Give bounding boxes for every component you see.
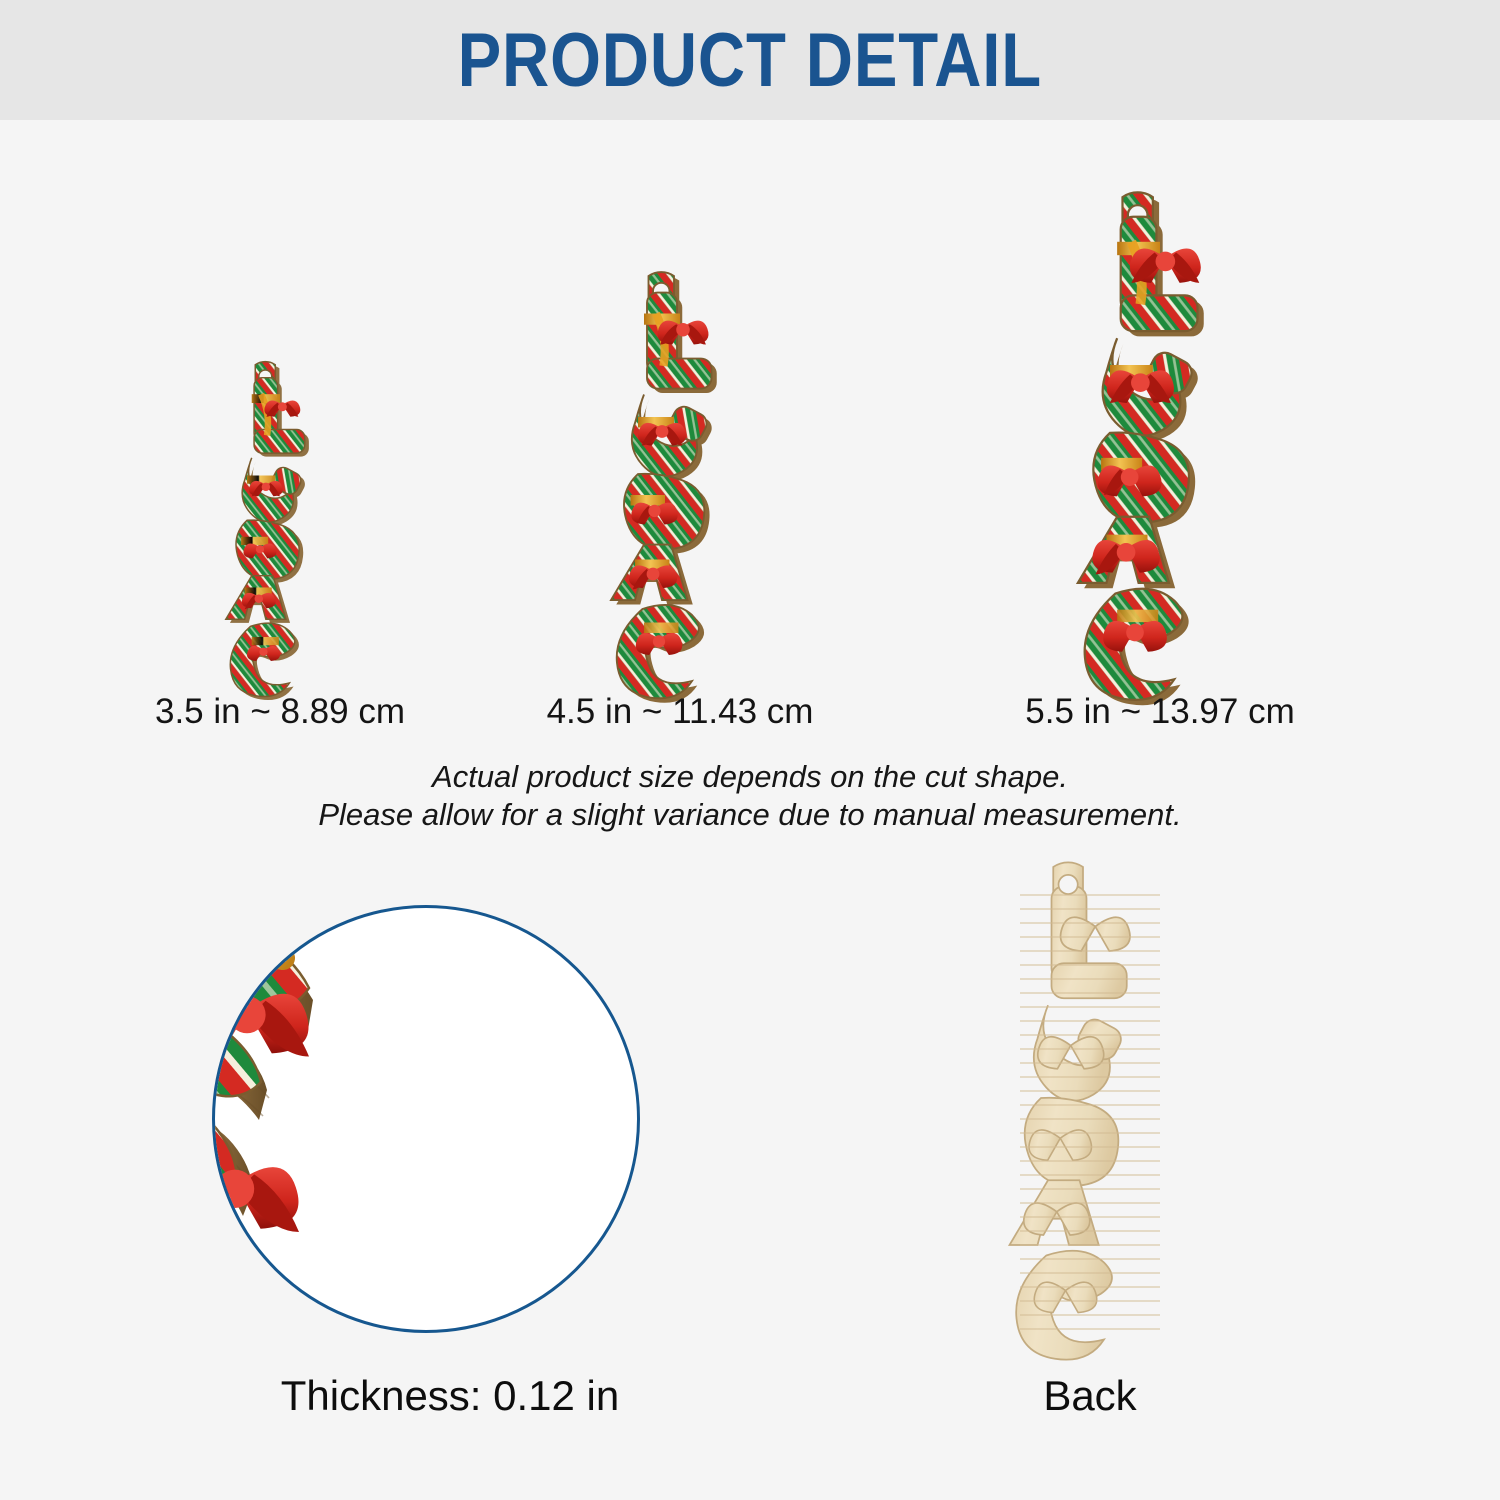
disclaimer-line-2: Please allow for a slight variance due t… xyxy=(0,796,1500,834)
back-view xyxy=(940,860,1240,1350)
ornament-front-medium-icon xyxy=(535,270,825,690)
page-header: PRODUCT DETAIL xyxy=(0,0,1500,120)
ornament-size-large xyxy=(950,150,1370,690)
ornament-size-small xyxy=(70,150,490,690)
size-comparison-row xyxy=(0,150,1500,690)
thickness-detail xyxy=(180,880,680,1350)
size-label-medium: 4.5 in ~ 11.43 cm xyxy=(470,692,890,732)
ornament-size-medium xyxy=(470,150,890,690)
size-label-small: 3.5 in ~ 8.89 cm xyxy=(70,692,490,732)
product-detail-page: PRODUCT DETAIL xyxy=(0,0,1500,1500)
disclaimer-line-1: Actual product size depends on the cut s… xyxy=(0,758,1500,796)
ornament-back-silhouette-icon xyxy=(940,860,1240,1350)
size-label-large: 5.5 in ~ 13.97 cm xyxy=(950,692,1370,732)
ornament-front-small-icon xyxy=(165,360,395,690)
size-labels: 3.5 in ~ 8.89 cm 4.5 in ~ 11.43 cm 5.5 i… xyxy=(0,692,1500,744)
ornament-front-large-icon xyxy=(980,190,1340,690)
thickness-edge-view-icon xyxy=(215,908,640,1333)
thickness-label: Thickness: 0.12 in xyxy=(130,1372,770,1420)
magnifier-circle xyxy=(212,905,640,1333)
back-wood-body xyxy=(1010,862,1161,1359)
hanging-hole xyxy=(1059,875,1078,894)
page-title: PRODUCT DETAIL xyxy=(458,17,1043,104)
back-view-label: Back xyxy=(880,1372,1300,1420)
size-disclaimer: Actual product size depends on the cut s… xyxy=(0,758,1500,834)
